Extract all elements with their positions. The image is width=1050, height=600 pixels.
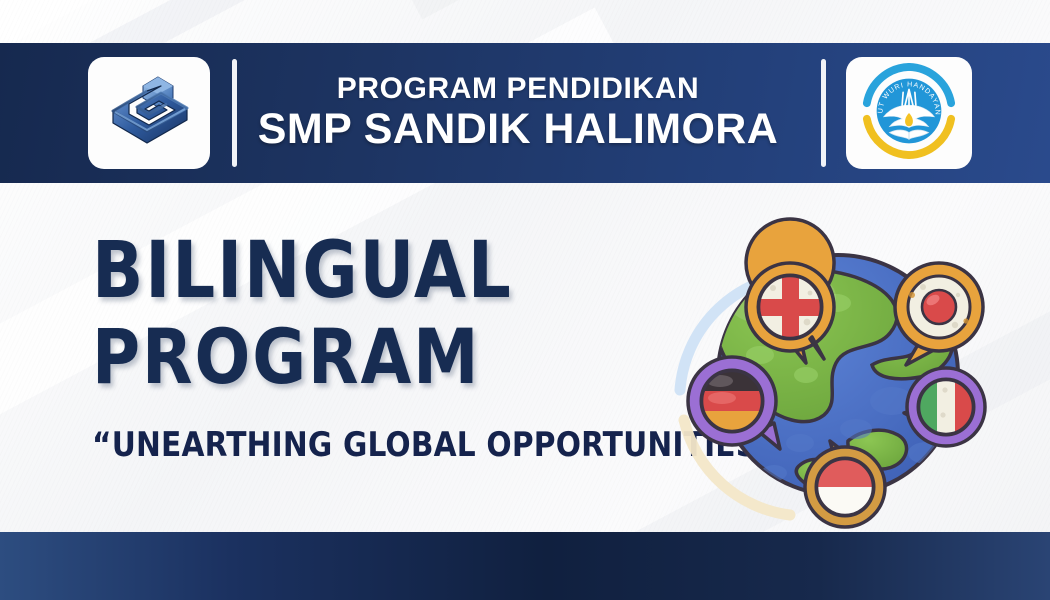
tut-wuri-handayani-logo: TUT WURI HANDAYANI <box>860 62 958 165</box>
flag-bubble-italy <box>904 368 985 446</box>
headline-line-2: PROGRAM <box>92 322 630 392</box>
headline-group: BILINGUAL PROGRAM <box>92 236 652 392</box>
header-divider-right <box>821 59 826 167</box>
school-monogram-logo <box>101 65 197 162</box>
school-name: SMP SANDIK HALIMORA <box>251 105 785 153</box>
background-swoosh <box>380 0 1040 19</box>
flag-bubble-germany <box>688 357 780 449</box>
program-label: PROGRAM PENDIDIKAN <box>251 73 785 105</box>
school-logo-container <box>88 57 210 169</box>
globe-illustration <box>640 215 1020 535</box>
poster-canvas: PROGRAM PENDIDIKAN SMP SANDIK HALIMORA <box>0 0 1050 600</box>
header-title-group: PROGRAM PENDIDIKAN SMP SANDIK HALIMORA <box>237 73 799 154</box>
header-band: PROGRAM PENDIDIKAN SMP SANDIK HALIMORA <box>0 43 1050 183</box>
ministry-logo-container: TUT WURI HANDAYANI <box>846 57 972 169</box>
headline-line-1: BILINGUAL <box>92 236 630 308</box>
bottom-accent-bar <box>0 532 1050 600</box>
